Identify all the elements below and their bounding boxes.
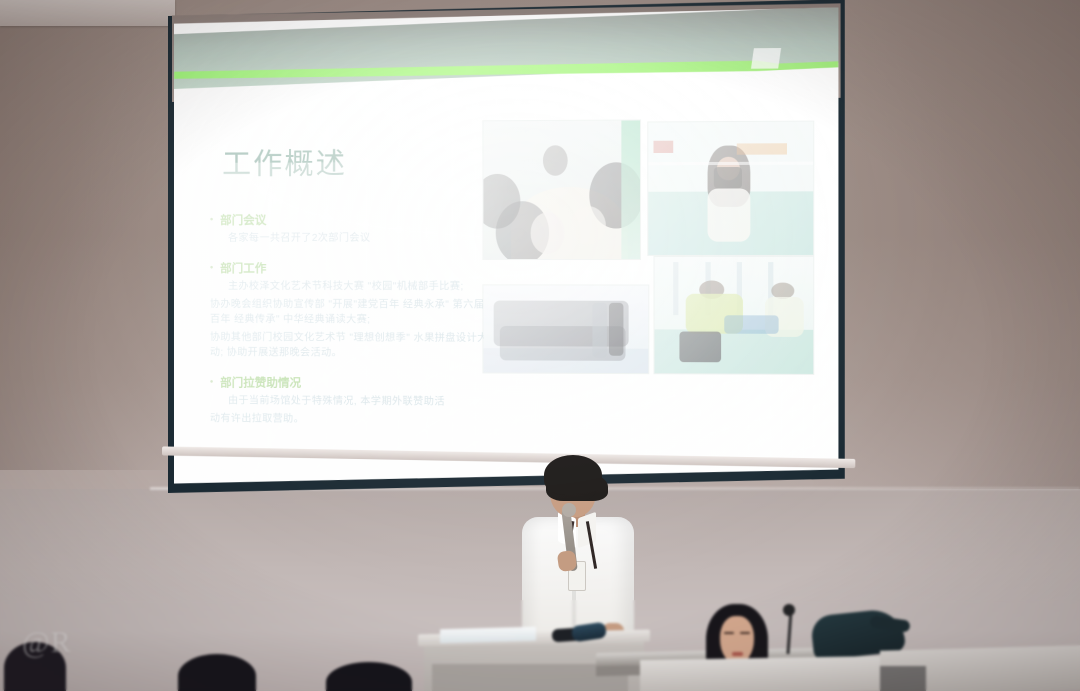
slide-banner-notch [751,48,781,69]
ceiling-trim [0,0,175,26]
wall-shadow-left [0,0,190,470]
presenter-hair [544,455,602,495]
bullet-heading-meeting: • 部门会议 [210,211,514,228]
photo-group-portrait [483,285,648,373]
bullet-body-sponsorship-1: 由于当前场馆处于特殊情况, 本学期外联赞助活 [228,393,514,410]
bullet-dot-icon: • [210,260,213,274]
projection-screen: 工作概述 • 部门会议 各家每一共召开了2次部门会议 • 部门工作 主办校泽文化… [168,0,845,515]
wall-shadow-right [810,0,1080,520]
bullet-body-work-3: 协助其他部门校园文化艺术节 "理想创想季" 水果拼盘设计大赛活动; 协助开展送那… [210,330,514,361]
presenter-hand-holding-mic [557,550,578,572]
desk-opening [880,666,926,691]
bullet-dot-icon: • [210,374,213,388]
photo-gym-exercise [655,257,814,374]
desk-microphone-icon [783,604,795,616]
photo-megaphone-girl [648,122,813,255]
bullet-body-meeting: 各家每一共召开了2次部门会议 [228,231,514,246]
slide-title: 工作概述 [222,140,347,183]
watermark: @R [22,626,72,660]
audience-head-1 [178,654,256,691]
bullet-body-work-2: 协办晚会组织协助宣传部 "开展"建党百年 经典永承" 第六届 "建党百年 经典传… [210,297,514,328]
photo-department-meeting [483,120,640,259]
bullet-heading-text: 部门拉赞助情况 [220,374,301,390]
microphone-head-icon [562,503,576,517]
papers-on-desk [440,627,536,644]
attendee-eyebrow-right [740,632,750,634]
slide-bullet-list: • 部门会议 各家每一共召开了2次部门会议 • 部门工作 主办校泽文化艺术节科技… [210,197,514,428]
attendee-face [720,616,754,664]
bullet-heading-sponsorship: • 部门拉赞助情况 [210,374,514,392]
bullet-body-work-1: 主办校泽文化艺术节科技大赛 "校园"机械部手比赛; [228,279,514,294]
bullet-body-sponsorship-2: 动有许出拉取营助。 [210,411,514,428]
bullet-heading-work: • 部门工作 [210,260,514,276]
front-row-desk [640,656,890,691]
bullet-dot-icon: • [210,212,213,226]
attendee-eyebrow-left [724,632,734,634]
attendee-lips [732,652,743,656]
bullet-heading-text: 部门工作 [220,260,266,276]
bullet-heading-text: 部门会议 [220,212,266,228]
desk-microphone-stem [786,610,792,654]
presentation-photo-scene: 工作概述 • 部门会议 各家每一共召开了2次部门会议 • 部门工作 主办校泽文化… [0,0,1080,691]
projected-slide: 工作概述 • 部门会议 各家每一共召开了2次部门会议 • 部门工作 主办校泽文化… [174,6,838,506]
